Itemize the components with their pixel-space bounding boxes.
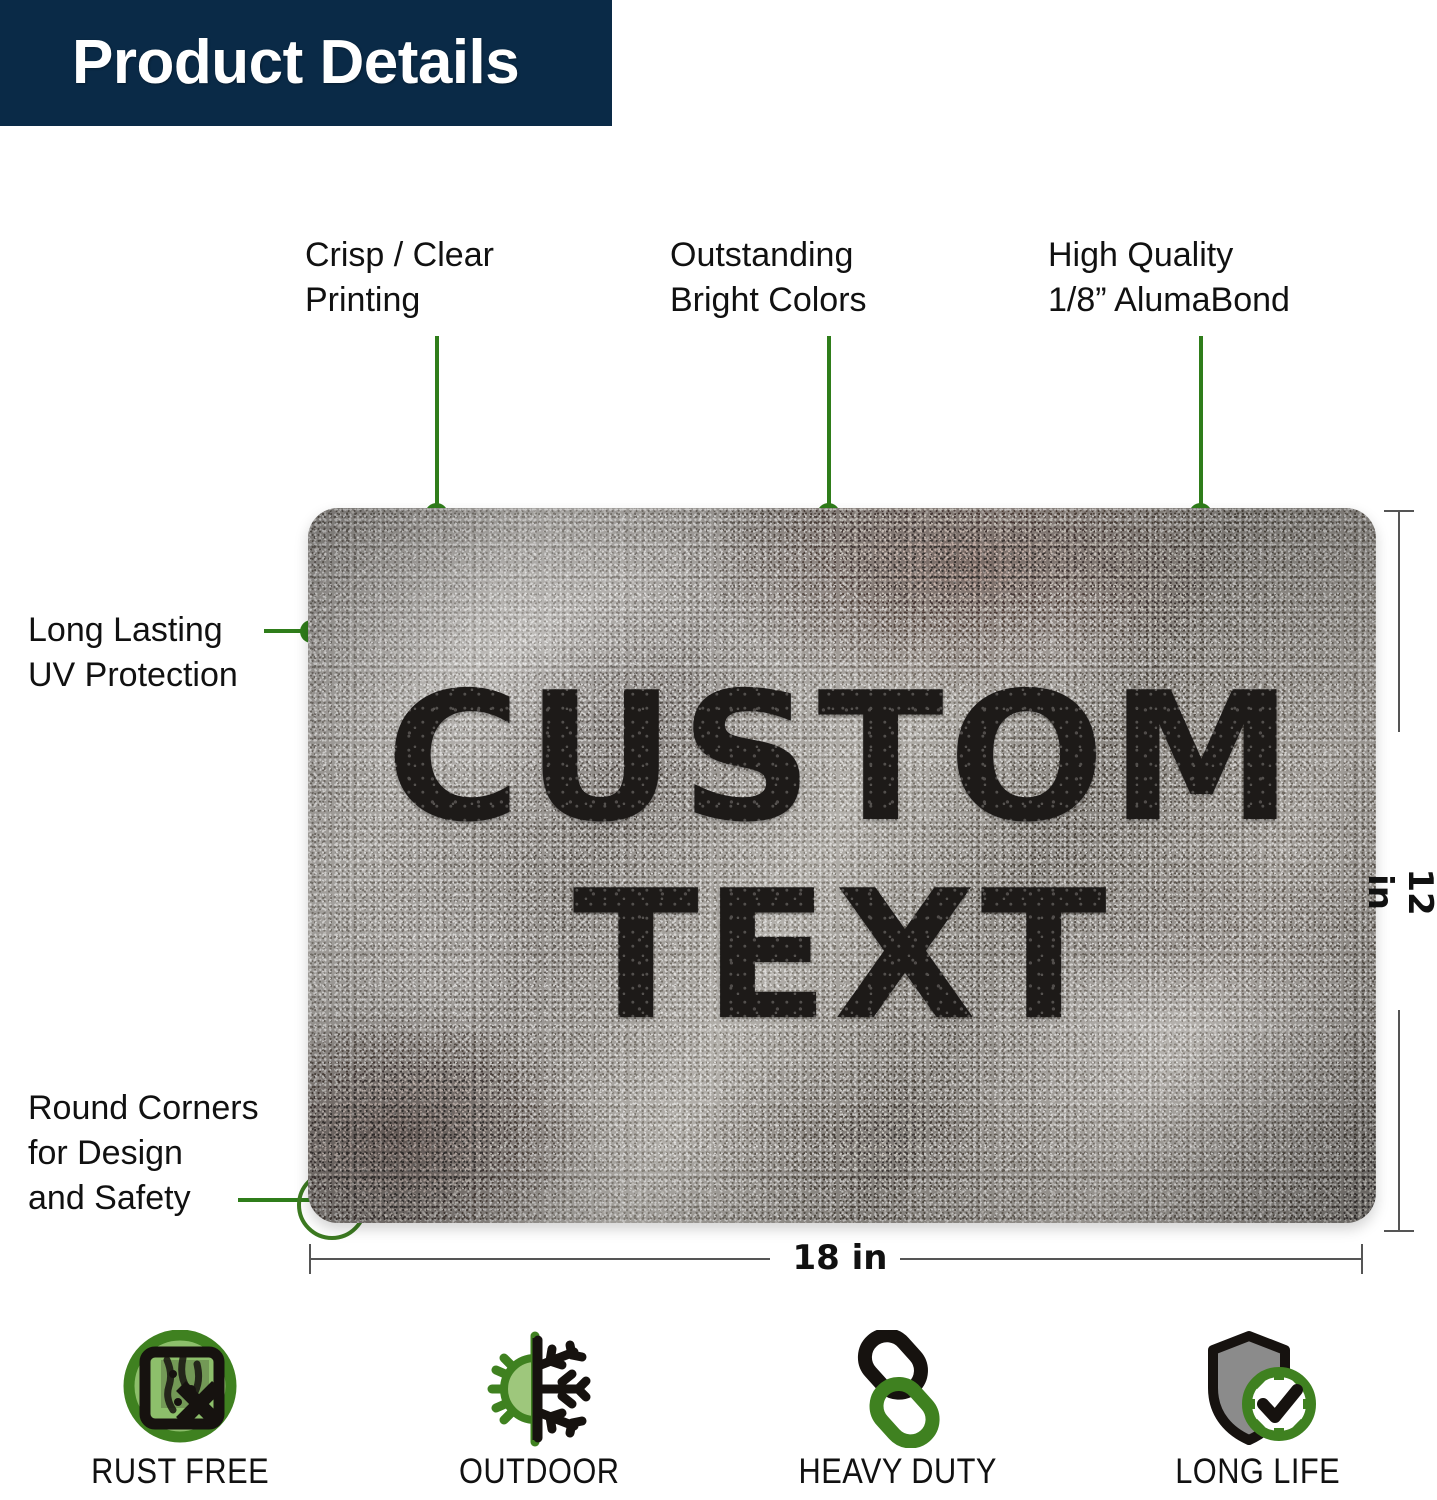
dimension-label-width: 18 in: [790, 1238, 890, 1278]
feature-badges-row: RUST FREE: [0, 1330, 1437, 1500]
callout-outstanding-bright-colors: Outstanding Bright Colors: [670, 233, 867, 323]
leader-line-crisp: [435, 336, 439, 516]
page-title: Product Details: [0, 32, 519, 94]
callout-high-quality-alumabond: High Quality 1/8” AlumaBond: [1048, 233, 1290, 323]
feature-heavy-duty: HEAVY DUTY: [748, 1330, 1048, 1492]
dimension-line-width-right: [900, 1258, 1363, 1260]
feature-outdoor: OUTDOOR: [389, 1330, 689, 1492]
rust-free-icon: [121, 1330, 239, 1448]
dimension-line-width-left: [310, 1258, 770, 1260]
dimension-tick-height-bottom: [1384, 1230, 1414, 1232]
dimension-tick-width-left: [309, 1244, 311, 1274]
feature-label-rust-free: RUST FREE: [91, 1452, 269, 1492]
feature-rust-free: RUST FREE: [30, 1330, 330, 1492]
sign-text-line-2: TEXT: [573, 874, 1111, 1038]
feature-label-long-life: LONG LIFE: [1175, 1452, 1340, 1492]
leader-line-bright: [827, 336, 831, 516]
feature-long-life: LONG LIFE: [1107, 1330, 1407, 1492]
sign-text-block: CUSTOM TEXT: [308, 508, 1376, 1223]
sign-text-line-1: CUSTOM: [386, 676, 1298, 840]
dimension-tick-width-right: [1361, 1244, 1363, 1274]
custom-sign-preview: CUSTOM TEXT: [308, 508, 1376, 1223]
dimension-line-height-upper: [1398, 510, 1400, 732]
product-details-infographic: Product Details Crisp / Clear Printing O…: [0, 0, 1437, 1500]
shield-check-icon: [1193, 1330, 1321, 1448]
feature-label-heavy-duty: HEAVY DUTY: [799, 1452, 997, 1492]
feature-label-outdoor: OUTDOOR: [459, 1452, 620, 1492]
sun-snowflake-icon: [476, 1330, 602, 1448]
chain-link-icon: [839, 1330, 957, 1448]
dimension-line-height-lower: [1398, 1010, 1400, 1232]
header-banner: Product Details: [0, 0, 612, 126]
callout-long-lasting-uv-protection: Long Lasting UV Protection: [28, 608, 238, 698]
callout-round-corners: Round Corners for Design and Safety: [28, 1086, 259, 1222]
dimension-label-height: 12 in: [1360, 852, 1437, 932]
callout-crisp-clear-printing: Crisp / Clear Printing: [305, 233, 494, 323]
leader-line-alumabond: [1199, 336, 1203, 516]
dimension-tick-height-top: [1384, 510, 1414, 512]
